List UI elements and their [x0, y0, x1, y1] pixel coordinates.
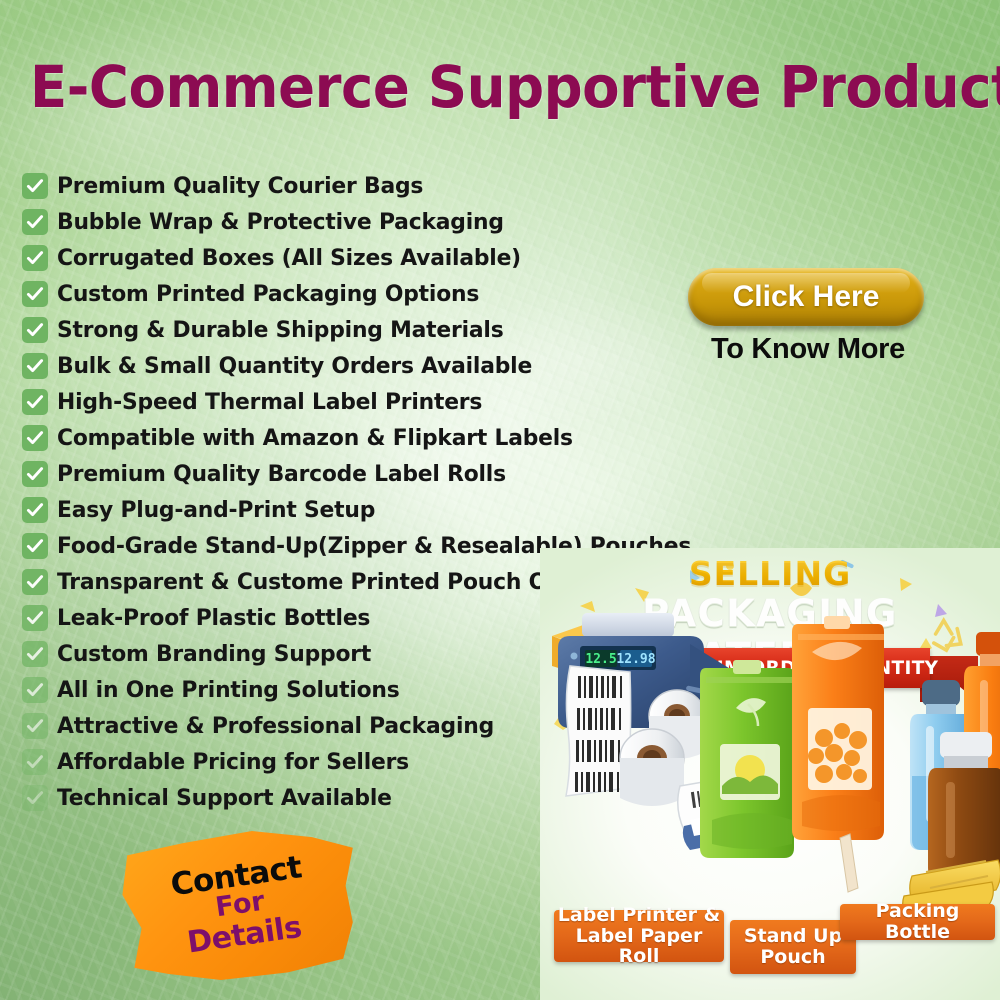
check-square-icon [22, 605, 48, 631]
check-square-icon [22, 785, 48, 811]
check-square-icon [22, 209, 48, 235]
product-label-bottle-line1: Packing Bottle [840, 901, 995, 942]
feature-item-label: Leak-Proof Plastic Bottles [57, 605, 370, 631]
feature-item-label: Bubble Wrap & Protective Packaging [57, 209, 504, 235]
contact-sticker[interactable]: Contact For Details [120, 828, 360, 980]
orange-standup-pouch [792, 616, 884, 840]
feature-item-label: Premium Quality Courier Bags [57, 173, 423, 199]
feature-item-label: Corrugated Boxes (All Sizes Available) [57, 245, 521, 271]
product-label-printer-line1: Label Printer & [558, 904, 720, 926]
feature-item: Corrugated Boxes (All Sizes Available) [22, 240, 742, 276]
feature-item-label: Attractive & Professional Packaging [57, 713, 494, 739]
feature-item: Premium Quality Barcode Label Rolls [22, 456, 742, 492]
check-square-icon [22, 317, 48, 343]
check-square-icon [22, 533, 48, 559]
green-standup-pouch [700, 660, 794, 858]
feature-item: Bulk & Small Quantity Orders Available [22, 348, 742, 384]
sticker-line-details: Details [185, 912, 303, 959]
cta-block: Click Here To Know More [688, 268, 928, 366]
feature-item-label: Custom Printed Packaging Options [57, 281, 479, 307]
feature-item-label: High-Speed Thermal Label Printers [57, 389, 482, 415]
feature-item-label: Bulk & Small Quantity Orders Available [57, 353, 532, 379]
click-here-button[interactable]: Click Here [688, 268, 924, 326]
check-square-icon [22, 173, 48, 199]
product-label-pouch: Stand Up Pouch [730, 920, 856, 974]
product-label-pouch-line1: Stand Up [744, 925, 842, 947]
label-roll-front [620, 729, 684, 806]
feature-item-label: Strong & Durable Shipping Materials [57, 317, 504, 343]
product-label-bottle: Packing Bottle [840, 904, 995, 940]
feature-item-label: Easy Plug-and-Print Setup [57, 497, 375, 523]
product-label-pouch-line2: Pouch [760, 946, 825, 968]
feature-item: Strong & Durable Shipping Materials [22, 312, 742, 348]
product-illustration-panel: SELLING PACKAGING MATERIAL NO MINIMUM OR… [540, 548, 1000, 1000]
feature-item-label: All in One Printing Solutions [57, 677, 400, 703]
product-label-printer-line2: Label Paper Roll [576, 925, 703, 968]
feature-item-label: Premium Quality Barcode Label Rolls [57, 461, 506, 487]
feature-item-label: Transparent & Custome Printed Pouch Opti… [57, 569, 623, 595]
sticker-text-group: Contact For Details [111, 812, 370, 996]
check-square-icon [22, 281, 48, 307]
check-square-icon [22, 425, 48, 451]
check-square-icon [22, 677, 48, 703]
check-square-icon [22, 713, 48, 739]
check-square-icon [22, 461, 48, 487]
check-square-icon [22, 497, 48, 523]
feature-item-label: Technical Support Available [57, 785, 392, 811]
feature-item: Compatible with Amazon & Flipkart Labels [22, 420, 742, 456]
click-here-label: Click Here [733, 280, 880, 314]
feature-item: Custom Printed Packaging Options [22, 276, 742, 312]
cta-subtitle: To Know More [688, 333, 928, 366]
check-square-icon [22, 389, 48, 415]
check-square-icon [22, 569, 48, 595]
check-square-icon [22, 641, 48, 667]
check-square-icon [22, 749, 48, 775]
printer-display-right: 12.98 [616, 652, 655, 667]
feature-item-label: Custom Branding Support [57, 641, 371, 667]
feature-item: Easy Plug-and-Print Setup [22, 492, 742, 528]
printer-display-left: 12.5 [585, 652, 616, 667]
check-square-icon [22, 245, 48, 271]
promotional-poster: E-Commerce Supportive Products Premium Q… [0, 0, 1000, 1000]
label-applicator-stick [840, 834, 858, 892]
check-square-icon [22, 353, 48, 379]
feature-item: Premium Quality Courier Bags [22, 168, 742, 204]
product-label-printer: Label Printer & Label Paper Roll [554, 910, 724, 962]
feature-item: Bubble Wrap & Protective Packaging [22, 204, 742, 240]
feature-item-label: Compatible with Amazon & Flipkart Labels [57, 425, 573, 451]
page-title: E-Commerce Supportive Products [30, 58, 970, 116]
feature-item: High-Speed Thermal Label Printers [22, 384, 742, 420]
feature-item-label: Affordable Pricing for Sellers [57, 749, 409, 775]
